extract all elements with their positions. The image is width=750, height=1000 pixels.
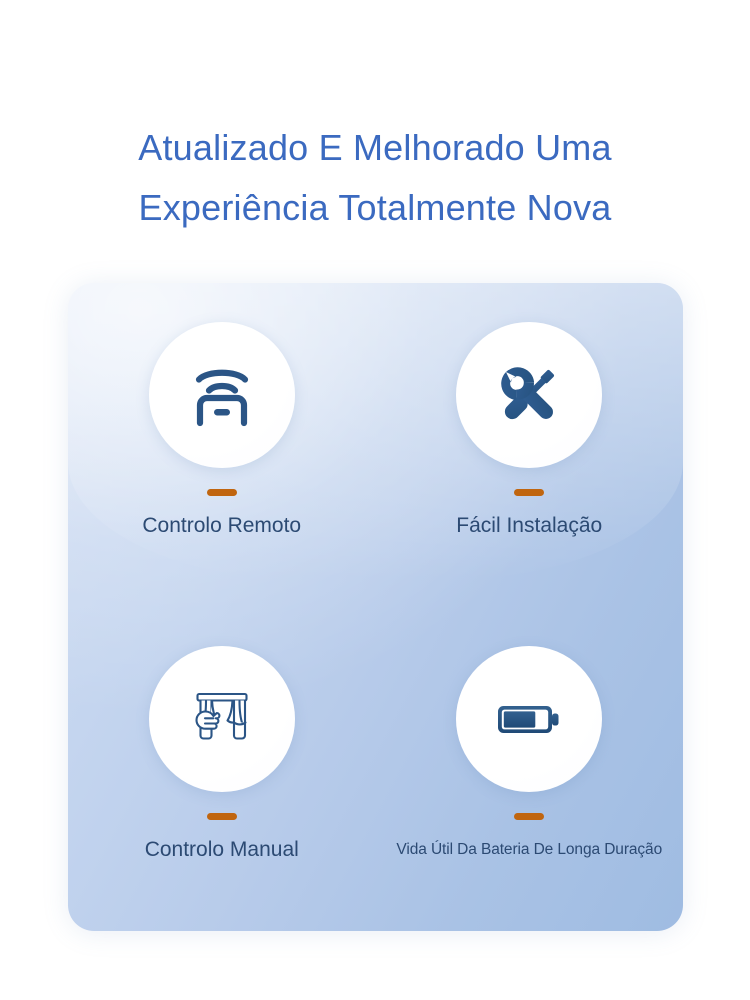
feature-icon-circle — [456, 646, 602, 792]
feature-label: Vida Útil Da Bateria De Longa Duração — [396, 837, 662, 863]
feature-label: Controlo Manual — [145, 837, 299, 863]
page-title: Atualizado E Melhorado Uma Experiência T… — [0, 118, 750, 238]
page-title-line-1: Atualizado E Melhorado Uma — [0, 118, 750, 178]
feature-item-battery-life[interactable]: Vida Útil Da Bateria De Longa Duração — [376, 607, 684, 931]
feature-divider-dash — [207, 489, 237, 496]
screwdriver-wrench-icon — [491, 357, 567, 433]
feature-item-easy-installation[interactable]: Fácil Instalação — [376, 283, 684, 607]
feature-divider-dash — [514, 489, 544, 496]
feature-grid: Controlo Remoto — [68, 283, 683, 931]
feature-item-manual-control[interactable]: Controlo Manual — [68, 607, 376, 931]
feature-item-remote-control[interactable]: Controlo Remoto — [68, 283, 376, 607]
page-title-line-2: Experiência Totalmente Nova — [0, 178, 750, 238]
battery-icon — [492, 682, 566, 756]
remote-control-wifi-icon — [184, 357, 260, 433]
feature-divider-dash — [207, 813, 237, 820]
feature-panel: Controlo Remoto — [68, 283, 683, 931]
feature-divider-dash — [514, 813, 544, 820]
feature-icon-circle — [149, 322, 295, 468]
feature-label: Controlo Remoto — [142, 513, 301, 539]
feature-label: Fácil Instalação — [456, 513, 602, 539]
feature-icon-circle — [149, 646, 295, 792]
hand-pulling-curtain-icon — [189, 686, 255, 752]
feature-icon-circle — [456, 322, 602, 468]
